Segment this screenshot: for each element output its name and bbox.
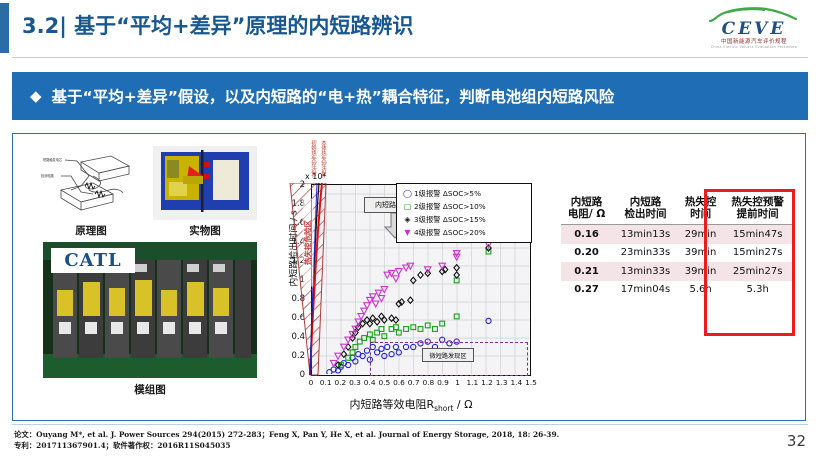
legend-item: ◈ 3级报警 ΔSOC>15% (401, 213, 529, 226)
table-cell: 25min27s (722, 262, 793, 281)
data-point (439, 263, 445, 269)
table-cell: 17min04s (612, 281, 679, 300)
data-point (425, 323, 430, 328)
table-row: 0.2113min33s39min25min27s (561, 262, 793, 281)
data-point (396, 269, 402, 275)
legend-item: ▼ 4级报警 ΔSOC>20% (401, 226, 529, 239)
table-cell: 0.27 (561, 281, 612, 300)
data-point (404, 327, 409, 332)
data-point (381, 287, 387, 293)
logo-cn-subtitle: 中国新能源汽车评价规程 (702, 37, 806, 45)
table-header-cell: 热失控时间 (679, 192, 723, 225)
x-tick: 0.4 (362, 378, 378, 387)
danger-zone-label: 热失控危险区 (303, 199, 314, 287)
x-tick: 1.4 (508, 378, 524, 387)
legend-item: ◯ 1级报警 ΔSOC>5% (401, 187, 529, 200)
principle-label-1: 短路触发电芯 (43, 157, 63, 162)
data-point (367, 332, 372, 337)
x-tick: 1.1 (464, 378, 480, 387)
data-point (411, 325, 416, 330)
scatter-chart: 初始热失控边界 本体热失控边界 x 10⁴ 内短路检出时间 / s 0 0.2 … (275, 138, 547, 416)
x-tick: 0.3 (347, 378, 363, 387)
battery-module-photo-image: CATL (43, 242, 257, 378)
references-footer: 论文：Ouyang M*, et al. J. Power Sources 29… (14, 429, 714, 451)
table-header-cell: 内短路检出时间 (612, 192, 679, 225)
thermal-danger-region: 热失控危险区 (282, 183, 338, 377)
data-point (372, 301, 378, 307)
data-point (350, 350, 355, 355)
table-cell: 39min (679, 262, 723, 281)
legend-marker-diamond-icon: ◈ (401, 216, 414, 224)
data-point (353, 345, 358, 350)
reference-papers: 论文：Ouyang M*, et al. J. Power Sources 29… (14, 429, 714, 440)
legend-marker-square-icon: ▢ (401, 203, 414, 211)
principle-diagram-image: 短路触发电芯 检测电路 (37, 146, 145, 220)
physical-photo-image (153, 146, 257, 220)
logo-en-subtitle: China Electric Vehicle Evaluation Proced… (702, 45, 806, 49)
data-point (353, 359, 358, 364)
results-table-wrapper: 内短路电阻/ Ω内短路检出时间热失控时间热失控预警提前时间 0.1613min1… (561, 192, 793, 299)
data-point (454, 265, 459, 271)
reference-patents: 专利：201711367901.4；软件著作权：2016R11S045035 (14, 440, 714, 451)
data-point (411, 277, 416, 283)
table-row: 0.2023min33s39min15min27s (561, 244, 793, 263)
x-tick: 0.7 (406, 378, 422, 387)
chart-legend: ◯ 1级报警 ΔSOC>5% ▢ 2级报警 ΔSOC>10% ◈ 3级报警 ΔS… (396, 183, 532, 243)
content-panel: 短路触发电芯 检测电路 原理图 实物图 (12, 133, 806, 421)
x-tick: 1.2 (479, 378, 495, 387)
banner-text: 基于“平均+差异”假设，以及内短路的“电+热”耦合特征，判断电池组内短路风险 (52, 85, 615, 107)
page-number: 32 (787, 432, 806, 450)
principle-label-2: 检测电路 (41, 173, 55, 178)
table-cell: 5.6h (679, 281, 723, 300)
results-table: 内短路电阻/ Ω内短路检出时间热失控时间热失控预警提前时间 0.1613min1… (561, 192, 793, 299)
table-row: 0.1613min13s29min15min47s (561, 225, 793, 244)
data-point (364, 348, 369, 353)
table-cell: 15min27s (722, 244, 793, 263)
data-point (345, 337, 351, 343)
x-tick: 1.3 (494, 378, 510, 387)
data-point (382, 334, 387, 339)
catl-logo: CATL (51, 248, 135, 273)
header-accent-bar (0, 3, 9, 53)
slide-header: 3.2| 基于“平均+差异”原理的内短路辨识 CEVE 中国新能源汽车评价规程 … (0, 0, 820, 56)
data-point (454, 272, 459, 278)
x-axis-ticks: 00.10.20.30.40.50.60.70.80.911.11.21.31.… (275, 378, 547, 390)
header-divider (12, 57, 808, 58)
table-cell: 13min33s (612, 262, 679, 281)
table-cell: 39min (679, 244, 723, 263)
data-point (418, 272, 423, 278)
table-cell: 0.21 (561, 262, 612, 281)
data-point (408, 297, 413, 303)
photo-caption: 实物图 (153, 223, 257, 238)
x-tick: 0.1 (318, 378, 334, 387)
table-header-cell: 内短路电阻/ Ω (561, 192, 612, 225)
legend-label: 2级报警 ΔSOC>10% (414, 202, 486, 212)
table-body: 0.1613min13s29min15min47s0.2023min33s39m… (561, 225, 793, 300)
legend-label: 4级报警 ΔSOC>20% (414, 228, 486, 238)
table-header-row: 内短路电阻/ Ω内短路检出时间热失控时间热失控预警提前时间 (561, 192, 793, 225)
data-point (440, 321, 445, 326)
key-point-banner: ◆ 基于“平均+差异”假设，以及内短路的“电+热”耦合特征，判断电池组内短路风险 (12, 72, 808, 120)
x-tick: 1.5 (523, 378, 539, 387)
legend-label: 1级报警 ΔSOC>5% (414, 189, 481, 199)
legend-marker-circle-icon: ◯ (401, 190, 414, 198)
footer-divider (12, 424, 808, 425)
data-point (433, 327, 438, 332)
table-cell: 0.16 (561, 225, 612, 244)
ceve-logo: CEVE 中国新能源汽车评价规程 China Electric Vehicle … (702, 6, 806, 52)
legend-marker-triangle-icon: ▼ (401, 229, 414, 237)
table-header-cell: 热失控预警提前时间 (722, 192, 793, 225)
table-cell: 13min13s (612, 225, 679, 244)
x-tick: 0.5 (376, 378, 392, 387)
plot-area: 热失控危险区 内短路检出区 微短路发现区 ◯ 1级报警 ΔSOC>5% ▢ (311, 184, 531, 376)
figure-column: 短路触发电芯 检测电路 原理图 实物图 (33, 142, 265, 414)
principle-caption: 原理图 (37, 223, 145, 238)
x-axis-label-main: 内短路等效电阻R (349, 398, 434, 411)
data-point (370, 294, 376, 300)
data-point (396, 330, 401, 335)
table-cell: 29min (679, 225, 723, 244)
data-point (418, 327, 423, 332)
x-tick: 1 (450, 378, 466, 387)
module-caption: 模组图 (43, 382, 257, 397)
x-tick: 0.6 (391, 378, 407, 387)
x-tick: 0.2 (332, 378, 348, 387)
x-axis-label-sub: short (434, 404, 453, 413)
data-point (393, 276, 399, 282)
x-axis-label-unit: / Ω (457, 398, 473, 411)
x-tick: 0.8 (420, 378, 436, 387)
legend-label: 3级报警 ΔSOC>15% (414, 215, 486, 225)
table-row: 0.2717min04s5.6h5.3h (561, 281, 793, 300)
micro-short-label: 微短路发现区 (422, 348, 474, 362)
x-axis-label: 内短路等效电阻Rshort / Ω (275, 396, 547, 413)
data-point (370, 315, 375, 321)
page-title: 3.2| 基于“平均+差异”原理的内短路辨识 (22, 10, 413, 40)
table-cell: 5.3h (722, 281, 793, 300)
diamond-bullet-icon: ◆ (30, 89, 42, 104)
data-point (486, 318, 491, 323)
x-tick: 0 (303, 378, 319, 387)
data-point (374, 319, 379, 325)
y-axis-exponent: x 10⁴ (305, 172, 326, 181)
table-cell: 23min33s (612, 244, 679, 263)
logo-wordmark: CEVE (702, 19, 806, 39)
data-point (454, 314, 459, 319)
table-cell: 0.20 (561, 244, 612, 263)
table-cell: 15min47s (722, 225, 793, 244)
x-tick: 0.9 (435, 378, 451, 387)
legend-item: ▢ 2级报警 ΔSOC>10% (401, 200, 529, 213)
